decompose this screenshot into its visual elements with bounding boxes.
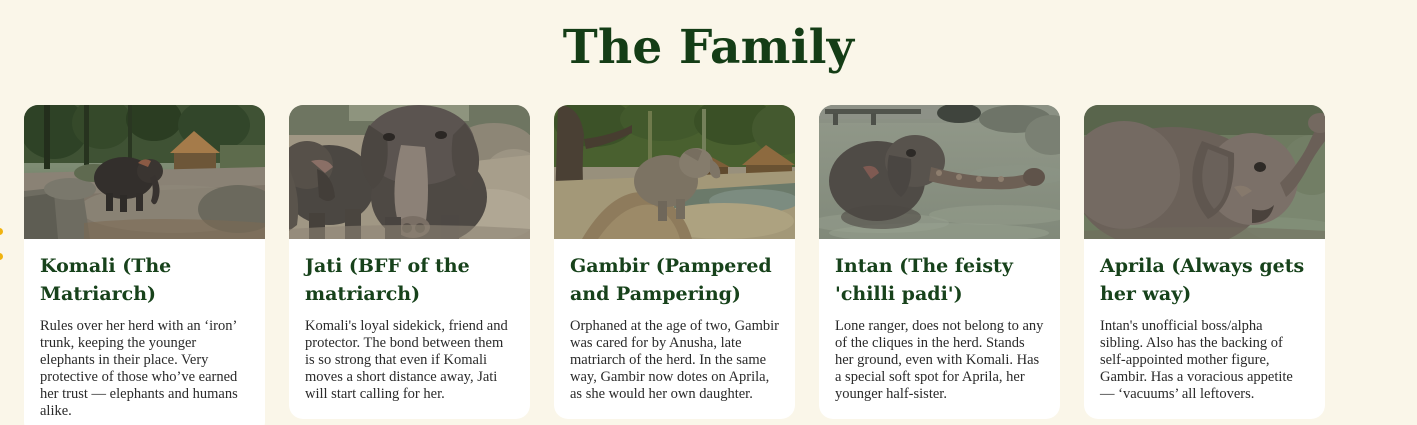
card-description: Komali's loyal sidekick, friend and prot… <box>305 318 514 403</box>
family-card[interactable]: Komali (The Matriarch) Rules over her he… <box>24 105 265 425</box>
card-description: Lone ranger, does not belong to any of t… <box>835 318 1044 403</box>
family-card[interactable]: Aprila (Always gets her way) Intan's uno… <box>1084 105 1325 419</box>
card-description: Rules over her herd with an ‘iron’ trunk… <box>40 318 249 420</box>
card-title: Komali (The Matriarch) <box>40 253 249 308</box>
card-title: Aprila (Always gets her way) <box>1100 253 1309 308</box>
carousel-dot-2[interactable] <box>0 253 3 260</box>
card-description: Orphaned at the age of two, Gambir was c… <box>570 318 779 403</box>
page-title: The Family <box>0 0 1417 81</box>
carousel-dot-1[interactable] <box>0 228 3 235</box>
card-title: Jati (BFF of the matriarch) <box>305 253 514 308</box>
elephant-photo-jati <box>289 105 530 239</box>
card-title: Intan (The feisty 'chilli padi') <box>835 253 1044 308</box>
elephant-photo-gambir <box>554 105 795 239</box>
carousel-dots <box>0 228 8 260</box>
elephant-photo-aprila <box>1084 105 1325 239</box>
card-description: Intan's unofficial boss/alpha sibling. A… <box>1100 318 1309 403</box>
elephant-photo-intan <box>819 105 1060 239</box>
family-card-carousel[interactable]: Komali (The Matriarch) Rules over her he… <box>24 105 1417 425</box>
family-card[interactable]: Jati (BFF of the matriarch) Komali's loy… <box>289 105 530 419</box>
family-card[interactable]: Gambir (Pampered and Pampering) Orphaned… <box>554 105 795 419</box>
family-card[interactable]: Intan (The feisty 'chilli padi') Lone ra… <box>819 105 1060 419</box>
elephant-photo-komali <box>24 105 265 239</box>
card-title: Gambir (Pampered and Pampering) <box>570 253 779 308</box>
